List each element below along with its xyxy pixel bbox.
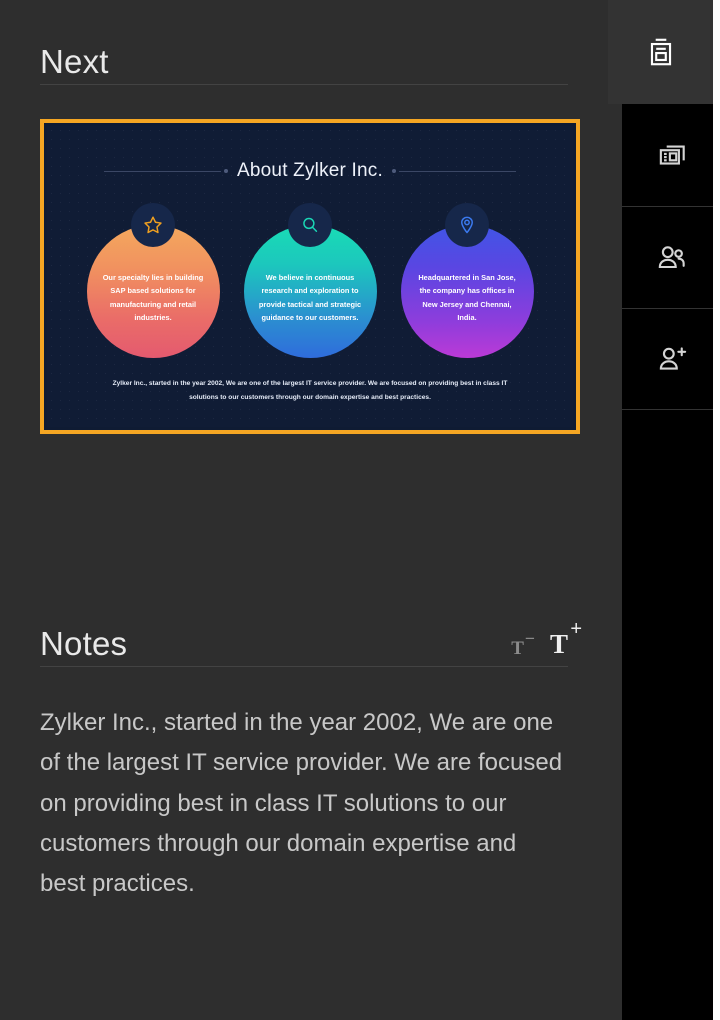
increase-font-glyph: T: [550, 629, 568, 659]
star-icon: [142, 214, 164, 236]
notes-title: Notes: [40, 627, 127, 660]
slide-canvas: About Zylker Inc. Our specialty lies in …: [47, 126, 573, 427]
slide-title: About Zylker Inc.: [221, 160, 399, 182]
sidebar-rail-strip: [713, 0, 720, 1020]
slide-title-rule-right: [399, 171, 516, 172]
right-sidebar: [608, 0, 720, 1020]
pillar-badge: [445, 203, 489, 247]
notes-divider: [40, 666, 568, 667]
sidebar-item-slides[interactable]: [622, 104, 720, 206]
next-section-header: Next: [40, 0, 568, 84]
audience-icon: [654, 240, 690, 276]
decrease-font-sup: −: [525, 630, 535, 647]
presenter-view-window: Next About Zylker Inc.: [0, 0, 720, 1020]
slide-title-row: About Zylker Inc.: [47, 160, 573, 182]
next-title: Next: [40, 45, 109, 78]
sidebar-panel: [622, 104, 720, 1020]
main-pane: Next About Zylker Inc.: [0, 0, 608, 1020]
decrease-font-glyph: T: [511, 638, 524, 659]
notes-section: Notes T− T+ Zylker Inc., started in the …: [40, 582, 568, 905]
pillar-badge: [288, 203, 332, 247]
font-size-tools: T− T+: [511, 631, 568, 660]
presenter-notes-icon: [644, 35, 678, 69]
sidebar-item-audience[interactable]: [622, 206, 720, 308]
notes-body-text[interactable]: Zylker Inc., started in the year 2002, W…: [40, 703, 568, 905]
pillar-text: Our specialty lies in building SAP based…: [87, 271, 220, 325]
pillar-text: Headquartered in San Jose, the company h…: [401, 271, 534, 325]
pillar-badge: [131, 203, 175, 247]
decrease-font-size-button[interactable]: T−: [511, 639, 524, 658]
slide-title-rule-left: [104, 171, 221, 172]
next-divider: [40, 84, 568, 85]
location-pin-icon: [456, 214, 478, 236]
slide-footnote: Zylker Inc., started in the year 2002, W…: [103, 377, 517, 405]
increase-font-sup: +: [570, 619, 582, 639]
next-slide-preview[interactable]: About Zylker Inc. Our specialty lies in …: [40, 119, 580, 434]
pillar-text: We believe in continuous research and ex…: [244, 271, 377, 325]
slide-layout-icon: [655, 138, 689, 172]
search-icon: [299, 214, 321, 236]
sidebar-item-invite[interactable]: [622, 308, 720, 410]
sidebar-tab-presenter-notes[interactable]: [608, 0, 713, 104]
increase-font-size-button[interactable]: T+: [550, 631, 568, 658]
add-person-icon: [654, 341, 690, 377]
notes-section-header: Notes T− T+: [40, 582, 568, 666]
